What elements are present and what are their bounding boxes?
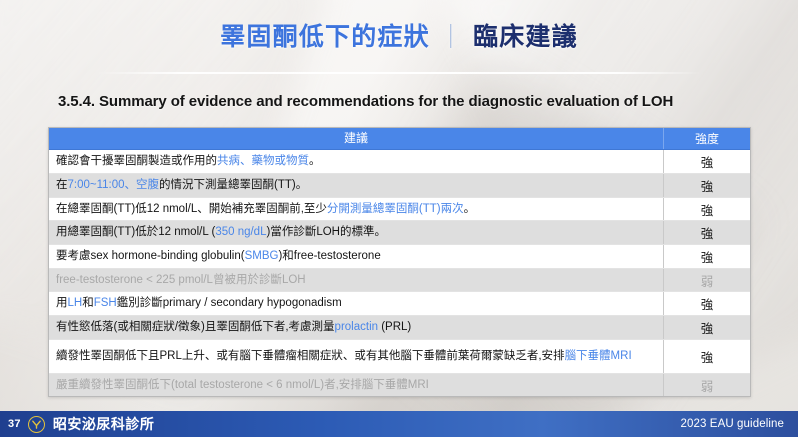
highlighted-term: LH <box>68 297 83 309</box>
table-row: 用LH和FSH鑑別診斷primary / secondary hypogonad… <box>49 292 750 316</box>
cell-recommendation: 要考慮sex hormone-binding globulin(SMBG)和fr… <box>49 245 664 268</box>
title-sub: 臨床建議 <box>473 23 578 51</box>
recommendation-text: 要考慮sex hormone-binding globulin( <box>56 250 245 262</box>
highlighted-term: SMBG <box>245 250 279 262</box>
cell-strength: 強 <box>664 174 750 197</box>
cell-strength: 弱 <box>664 269 750 292</box>
recommendation-text: 鑑別診斷primary / secondary hypogonadism <box>117 297 342 309</box>
cell-strength: 強 <box>664 292 750 315</box>
highlighted-term: 腦下垂體MRI <box>565 350 632 362</box>
highlighted-term: 7:00~11:00、空腹 <box>68 179 160 191</box>
section-subtitle: 3.5.4. Summary of evidence and recommend… <box>58 93 673 110</box>
highlighted-term: prolactin <box>335 321 378 333</box>
recommendation-text: 。 <box>464 203 476 215</box>
recommendation-text: free-testosterone < 225 pmol/L曾被用於診斷LOH <box>56 274 306 286</box>
cell-strength: 強 <box>664 340 750 373</box>
cell-strength: 弱 <box>664 374 750 397</box>
footer-source: 2023 EAU guideline <box>681 418 784 430</box>
slide-footer: 37 昭安泌尿科診所 2023 EAU guideline <box>0 411 798 437</box>
table-row: 在總睪固酮(TT)低12 nmol/L、開始補充睪固酮前,至少分開測量總睪固酮(… <box>49 198 750 222</box>
cell-recommendation: 用LH和FSH鑑別診斷primary / secondary hypogonad… <box>49 292 664 315</box>
table-row: 續發性睪固酮低下且PRL上升、或有腦下垂體瘤相關症狀、或有其他腦下垂體前葉荷爾蒙… <box>49 340 750 374</box>
title-main: 睪固酮低下的症狀 <box>220 23 430 51</box>
recommendation-text: (PRL) <box>378 321 411 333</box>
cell-recommendation: free-testosterone < 225 pmol/L曾被用於診斷LOH <box>49 269 664 292</box>
recommendation-text: )和free-testosterone <box>278 250 380 262</box>
recommendation-text: 用總睪固酮(TT)低於12 nmol/L ( <box>56 226 215 238</box>
cell-strength: 強 <box>664 150 750 173</box>
recommendations-table: 建議 強度 確認會干擾睪固酮製造或作用的共病、藥物或物質。強在7:00~11:0… <box>48 127 751 397</box>
highlighted-term: 350 ng/dL <box>215 226 266 238</box>
clinic-logo-icon <box>28 416 45 433</box>
page-number: 37 <box>8 418 21 430</box>
cell-recommendation: 確認會干擾睪固酮製造或作用的共病、藥物或物質。 <box>49 150 664 173</box>
highlighted-term: FSH <box>94 297 117 309</box>
cell-strength: 強 <box>664 221 750 244</box>
recommendation-text: 和 <box>82 297 94 309</box>
cell-recommendation: 嚴重續發性睪固酮低下(total testosterone < 6 nmol/L… <box>49 374 664 397</box>
table-row: 有性慾低落(或相關症狀/徵象)且睪固酮低下者,考慮測量prolactin (PR… <box>49 316 750 340</box>
column-header-strength: 強度 <box>664 128 750 149</box>
cell-strength: 強 <box>664 316 750 339</box>
highlighted-term: 共病、藥物或物質 <box>217 155 309 167</box>
table-row: 確認會干擾睪固酮製造或作用的共病、藥物或物質。強 <box>49 150 750 174</box>
recommendation-text: 續發性睪固酮低下且PRL上升、或有腦下垂體瘤相關症狀、或有其他腦下垂體前葉荷爾蒙… <box>56 350 565 362</box>
recommendation-text: 嚴重續發性睪固酮低下(total testosterone < 6 nmol/L… <box>56 379 429 391</box>
cell-strength: 強 <box>664 245 750 268</box>
cell-recommendation: 續發性睪固酮低下且PRL上升、或有腦下垂體瘤相關症狀、或有其他腦下垂體前葉荷爾蒙… <box>49 340 664 373</box>
table-row: 用總睪固酮(TT)低於12 nmol/L (350 ng/dL)當作診斷LOH的… <box>49 221 750 245</box>
cell-recommendation: 在總睪固酮(TT)低12 nmol/L、開始補充睪固酮前,至少分開測量總睪固酮(… <box>49 198 664 221</box>
recommendation-text: 用 <box>56 297 68 309</box>
table-row: 在7:00~11:00、空腹的情況下測量總睪固酮(TT)。強 <box>49 174 750 198</box>
recommendation-text: 在 <box>56 179 68 191</box>
cell-recommendation: 用總睪固酮(TT)低於12 nmol/L (350 ng/dL)當作診斷LOH的… <box>49 221 664 244</box>
table-row: free-testosterone < 225 pmol/L曾被用於診斷LOH弱 <box>49 269 750 293</box>
column-header-recommendation: 建議 <box>49 128 664 149</box>
clinic-name: 昭安泌尿科診所 <box>53 414 155 434</box>
recommendation-text: 的情況下測量總睪固酮(TT)。 <box>159 179 307 191</box>
cell-strength: 強 <box>664 198 750 221</box>
table-row: 嚴重續發性睪固酮低下(total testosterone < 6 nmol/L… <box>49 374 750 397</box>
slide-title: 睪固酮低下的症狀｜臨床建議 <box>0 22 798 53</box>
cell-recommendation: 在7:00~11:00、空腹的情況下測量總睪固酮(TT)。 <box>49 174 664 197</box>
recommendation-text: 確認會干擾睪固酮製造或作用的 <box>56 155 217 167</box>
title-separator: ｜ <box>430 24 473 51</box>
title-divider <box>96 72 702 74</box>
recommendation-text: 有性慾低落(或相關症狀/徵象)且睪固酮低下者,考慮測量 <box>56 321 335 333</box>
recommendation-text: 。 <box>309 155 321 167</box>
highlighted-term: 分開測量總睪固酮(TT)兩次 <box>327 203 464 215</box>
table-body: 確認會干擾睪固酮製造或作用的共病、藥物或物質。強在7:00~11:00、空腹的情… <box>49 150 750 396</box>
table-header-row: 建議 強度 <box>49 128 750 150</box>
cell-recommendation: 有性慾低落(或相關症狀/徵象)且睪固酮低下者,考慮測量prolactin (PR… <box>49 316 664 339</box>
table-row: 要考慮sex hormone-binding globulin(SMBG)和fr… <box>49 245 750 269</box>
recommendation-text: 在總睪固酮(TT)低12 nmol/L、開始補充睪固酮前,至少 <box>56 203 327 215</box>
recommendation-text: )當作診斷LOH的標準。 <box>266 226 385 238</box>
